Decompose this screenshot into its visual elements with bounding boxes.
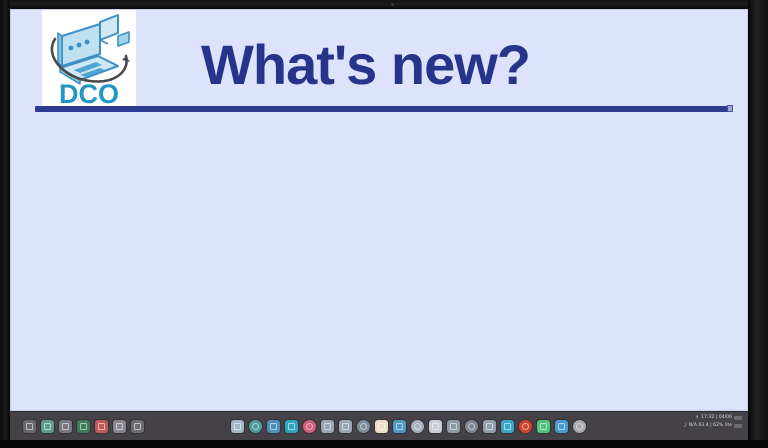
upload-icon: ↑	[695, 415, 699, 421]
taskbar-item-window-chat[interactable]	[285, 420, 298, 433]
taskbar-item-window-calculator[interactable]	[357, 420, 370, 433]
presentation-slide[interactable]: DCO What's new?	[10, 9, 748, 411]
taskbar-item-window-cloud[interactable]	[231, 420, 244, 433]
taskbar-item-app-terminal[interactable]	[41, 420, 54, 433]
taskbar-item-app-editor[interactable]	[59, 420, 72, 433]
taskbar-item-window-media[interactable]	[303, 420, 316, 433]
monitor-bezel-bottom	[0, 440, 768, 448]
taskbar-window-list	[228, 412, 588, 440]
taskbar-item-app-settings[interactable]	[131, 420, 144, 433]
taskbar-item-window-browser[interactable]	[267, 420, 280, 433]
taskbar-item-window-mail[interactable]	[249, 420, 262, 433]
dco-logo-text: DCO	[59, 79, 119, 107]
network-icon[interactable]	[734, 424, 742, 428]
taskbar-item-window-terminal-2[interactable]	[555, 420, 568, 433]
desktop: DCO What's new? ↑ 17:32 | 04/06 ♪ N/A	[10, 9, 748, 440]
monitor-bezel-right	[748, 0, 768, 448]
title-divider-resize-handle[interactable]	[727, 105, 733, 112]
taskbar-item-app-files[interactable]	[23, 420, 36, 433]
tray-row-secondary: ♪ N/A 63.4 | 62% lite	[634, 422, 742, 430]
taskbar-item-window-music[interactable]	[465, 420, 478, 433]
battery-icon[interactable]	[734, 416, 742, 420]
taskbar-launchers	[20, 412, 146, 440]
monitor-frame: DCO What's new? ↑ 17:32 | 04/06 ♪ N/A	[0, 0, 768, 448]
monitor-bezel-top	[0, 0, 768, 9]
tray-status[interactable]: N/A 63.4 | 62% lite	[689, 423, 732, 429]
taskbar-item-window-image[interactable]	[411, 420, 424, 433]
taskbar-item-app-media[interactable]	[95, 420, 108, 433]
system-tray[interactable]: ↑ 17:32 | 04/06 ♪ N/A 63.4 | 62% lite	[634, 414, 742, 439]
taskbar-item-window-inactive[interactable]	[573, 420, 586, 433]
taskbar-item-window-arrow[interactable]	[429, 420, 442, 433]
volume-icon[interactable]: ♪	[684, 423, 687, 429]
taskbar-item-window-document-1[interactable]	[321, 420, 334, 433]
taskbar: ↑ 17:32 | 04/06 ♪ N/A 63.4 | 62% lite	[10, 411, 748, 440]
taskbar-item-window-spreadsheet[interactable]	[537, 420, 550, 433]
tray-clock[interactable]: 17:32 | 04/06	[701, 415, 732, 421]
taskbar-item-window-folder[interactable]	[483, 420, 496, 433]
taskbar-item-app-notes[interactable]	[113, 420, 126, 433]
taskbar-item-window-browser-2[interactable]	[393, 420, 406, 433]
page-title[interactable]: What's new?	[201, 32, 721, 98]
taskbar-item-window-archive[interactable]	[447, 420, 460, 433]
taskbar-item-window-document-2[interactable]	[339, 420, 352, 433]
dco-logo: DCO	[42, 10, 136, 107]
taskbar-item-window-notes[interactable]	[375, 420, 388, 433]
taskbar-item-window-disc[interactable]	[501, 420, 514, 433]
taskbar-item-app-browser[interactable]	[77, 420, 90, 433]
webcam-icon	[391, 3, 394, 6]
tray-row-primary: ↑ 17:32 | 04/06	[634, 414, 742, 422]
dco-logo-graphic: DCO	[42, 10, 136, 107]
title-divider[interactable]	[35, 106, 729, 112]
slide-body-placeholder[interactable]	[51, 140, 711, 390]
taskbar-item-window-record[interactable]	[519, 420, 532, 433]
monitor-bezel-left	[0, 0, 10, 448]
